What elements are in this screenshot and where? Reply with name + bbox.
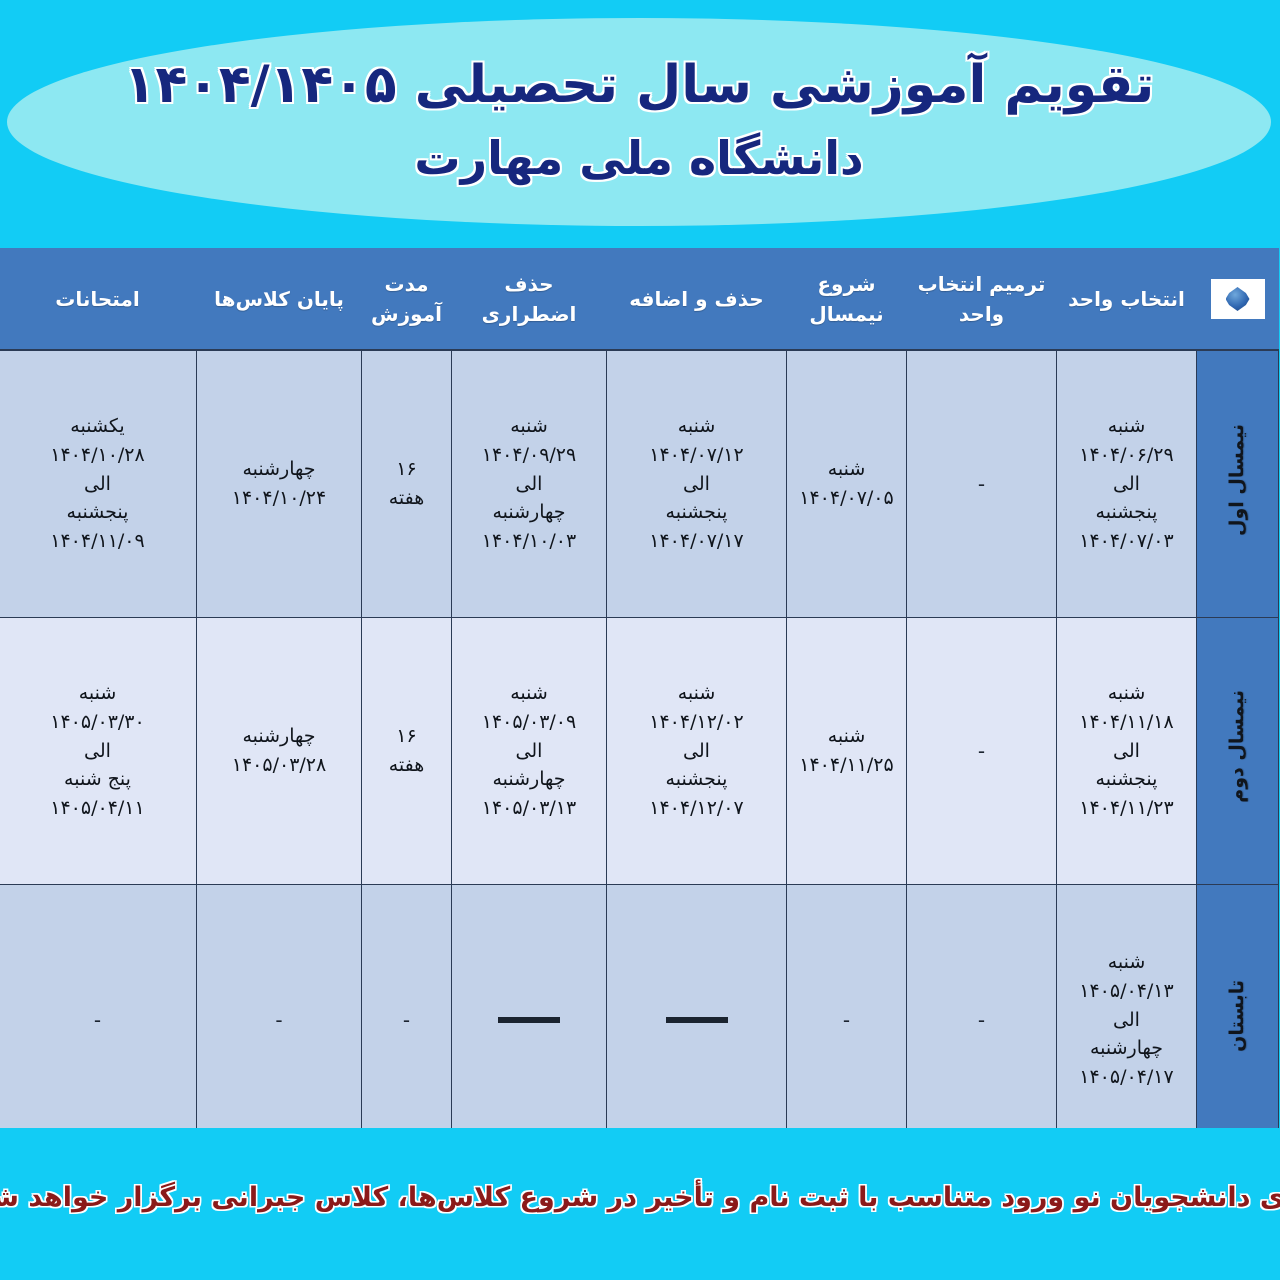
- cell-term-start: شنبه۱۴۰۴/۱۱/۲۵: [788, 618, 908, 885]
- table-body: نیمسال اول شنبه۱۴۰۴/۰۶/۲۹الیپنجشنبه۱۴۰۴/…: [0, 350, 1280, 1156]
- university-logo-cell: [1198, 249, 1280, 351]
- column-header-selection: انتخاب واحد: [1058, 249, 1198, 351]
- cell-add-drop: [608, 885, 788, 1156]
- cell-emergency-drop: [453, 885, 608, 1156]
- cell-duration: -: [363, 885, 453, 1156]
- row-label-second-semester: نیمسال دوم: [1198, 618, 1280, 885]
- column-header-duration: مدت آموزش: [363, 249, 453, 351]
- cell-selection: شنبه۱۴۰۴/۰۶/۲۹الیپنجشنبه۱۴۰۴/۰۷/۰۳: [1058, 350, 1198, 618]
- footer-banner: برای دانشجویان نو ورود متناسب با ثبت نام…: [0, 1128, 1280, 1280]
- university-diamond-logo-icon: [1212, 279, 1266, 319]
- cell-classes-end: -: [198, 885, 363, 1156]
- cell-term-start: شنبه۱۴۰۴/۰۷/۰۵: [788, 350, 908, 618]
- header-banner: تقویم آموزشی سال تحصیلی ۱۴۰۴/۱۴۰۵ دانشگا…: [0, 0, 1280, 240]
- cell-emergency-drop: شنبه۱۴۰۴/۰۹/۲۹الیچهارشنبه۱۴۰۴/۱۰/۰۳: [453, 350, 608, 618]
- table-row: نیمسال اول شنبه۱۴۰۴/۰۶/۲۹الیپنجشنبه۱۴۰۴/…: [0, 350, 1280, 618]
- column-header-classes-end: پایان کلاس‌ها: [198, 249, 363, 351]
- cell-duration: ۱۶هفته: [363, 350, 453, 618]
- cell-selection: شنبه۱۴۰۵/۰۴/۱۳الیچهارشنبه۱۴۰۵/۰۴/۱۷: [1058, 885, 1198, 1156]
- column-header-fix-selection: ترمیم انتخاب واحد: [908, 249, 1058, 351]
- cell-add-drop: شنبه۱۴۰۴/۱۲/۰۲الیپنجشنبه۱۴۰۴/۱۲/۰۷: [608, 618, 788, 885]
- table-header-row: انتخاب واحد ترمیم انتخاب واحد شروع نیمسا…: [0, 249, 1280, 351]
- cell-fix-selection: -: [908, 885, 1058, 1156]
- cell-selection: شنبه۱۴۰۴/۱۱/۱۸الیپنجشنبه۱۴۰۴/۱۱/۲۳: [1058, 618, 1198, 885]
- cell-exams: یکشنبه۱۴۰۴/۱۰/۲۸الیپنجشنبه۱۴۰۴/۱۱/۰۹: [0, 350, 198, 618]
- cell-fix-selection: -: [908, 618, 1058, 885]
- column-header-term-start: شروع نیمسال: [788, 249, 908, 351]
- cell-classes-end: چهارشنبه۱۴۰۵/۰۳/۲۸: [198, 618, 363, 885]
- page-title: تقویم آموزشی سال تحصیلی ۱۴۰۴/۱۴۰۵: [125, 58, 1156, 113]
- row-label-summer: تابستان: [1198, 885, 1280, 1156]
- row-label-first-semester: نیمسال اول: [1198, 350, 1280, 618]
- cell-duration: ۱۶هفته: [363, 618, 453, 885]
- cell-classes-end: چهارشنبه۱۴۰۴/۱۰/۲۴: [198, 350, 363, 618]
- cell-emergency-drop: شنبه۱۴۰۵/۰۳/۰۹الیچهارشنبه۱۴۰۵/۰۳/۱۳: [453, 618, 608, 885]
- table-row: نیمسال دوم شنبه۱۴۰۴/۱۱/۱۸الیپنجشنبه۱۴۰۴/…: [0, 618, 1280, 885]
- academic-calendar-table: انتخاب واحد ترمیم انتخاب واحد شروع نیمسا…: [0, 248, 1280, 1156]
- cell-add-drop: شنبه۱۴۰۴/۰۷/۱۲الیپنجشنبه۱۴۰۴/۰۷/۱۷: [608, 350, 788, 618]
- column-header-emergency-drop: حذف اضطراری: [453, 249, 608, 351]
- cell-exams: شنبه۱۴۰۵/۰۳/۳۰الیپنج شنبه۱۴۰۵/۰۴/۱۱: [0, 618, 198, 885]
- cell-term-start: -: [788, 885, 908, 1156]
- cell-fix-selection: -: [908, 350, 1058, 618]
- column-header-add-drop: حذف و اضافه: [608, 249, 788, 351]
- cell-exams: -: [0, 885, 198, 1156]
- table-row: تابستان شنبه۱۴۰۵/۰۴/۱۳الیچهارشنبه۱۴۰۵/۰۴…: [0, 885, 1280, 1156]
- header-text-group: تقویم آموزشی سال تحصیلی ۱۴۰۴/۱۴۰۵ دانشگا…: [0, 0, 1280, 240]
- calendar-table-container: انتخاب واحد ترمیم انتخاب واحد شروع نیمسا…: [0, 248, 1280, 1128]
- page-subtitle: دانشگاه ملی مهارت: [415, 134, 864, 182]
- footer-note: برای دانشجویان نو ورود متناسب با ثبت نام…: [0, 1182, 1280, 1213]
- column-header-exams: امتحانات: [0, 249, 198, 351]
